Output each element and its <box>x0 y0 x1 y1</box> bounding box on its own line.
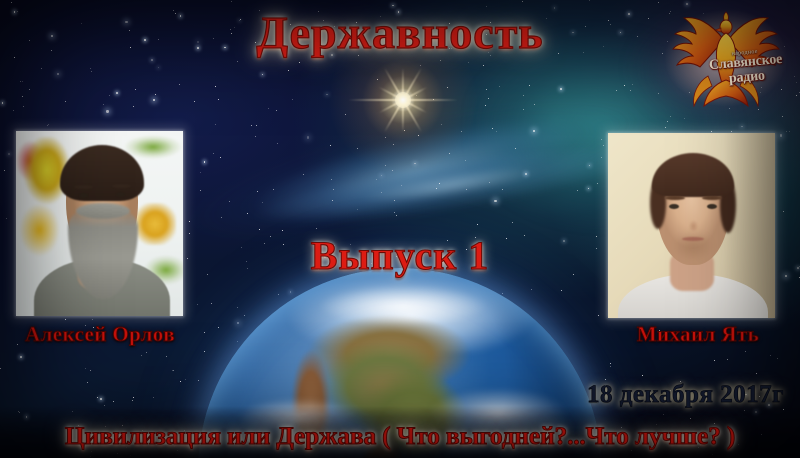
photo-right-eye <box>669 204 679 209</box>
photo-left-leaf-art <box>124 135 182 159</box>
photo-left-eye <box>79 193 88 198</box>
poster-title: Державность <box>0 6 800 59</box>
photo-left-mustache <box>76 203 130 219</box>
photo-left-brow <box>112 184 131 188</box>
photo-left-brow <box>74 185 93 189</box>
photo-right-brow <box>665 196 685 200</box>
poster-subtitle: Цивилизация или Держава ( Что выгодней?.… <box>0 421 800 451</box>
broadcast-date: 18 декабря 2017г <box>587 381 784 409</box>
guest-photo-left <box>16 131 183 316</box>
star-core <box>395 92 411 108</box>
guest-name-left: Алексей Орлов <box>0 322 200 347</box>
guest-name-right: Михаил Ять <box>598 322 798 347</box>
issue-label: Выпуск 1 <box>0 232 800 279</box>
photo-right-eye <box>707 204 717 209</box>
poster-root: народное Славянское радио Державность Вы… <box>0 0 800 458</box>
photo-right-brow <box>702 196 722 200</box>
guest-photo-right <box>608 133 775 318</box>
photo-left-eye <box>116 192 125 197</box>
